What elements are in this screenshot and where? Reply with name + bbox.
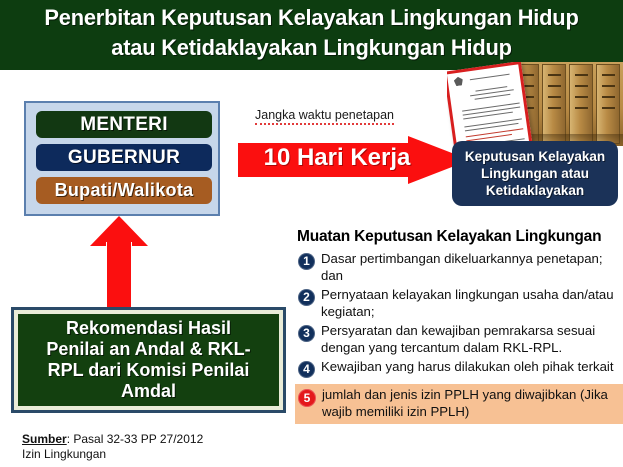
list-item-number-badge: 2 xyxy=(298,289,315,306)
cabinet-column xyxy=(569,64,593,144)
arrow-duration-label: 10 Hari Kerja xyxy=(242,141,432,175)
list-item: 3 Persyaratan dan kewajiban pemrakarsa s… xyxy=(295,322,623,358)
arrow-shaft xyxy=(106,242,132,314)
list-item-highlighted: 5 jumlah dan jenis izin PPLH yang diwaji… xyxy=(295,384,623,424)
list-item: 1 Dasar pertimbangan dikeluarkannya pene… xyxy=(295,250,623,286)
list-item-text: Pernyataan kelayakan lingkungan usaha da… xyxy=(321,287,623,320)
list-item-text: jumlah dan jenis izin PPLH yang diwajibk… xyxy=(322,387,623,420)
content-list: 1 Dasar pertimbangan dikeluarkannya pene… xyxy=(295,250,623,424)
cabinet-column xyxy=(542,64,566,144)
process-arrow-up xyxy=(90,216,148,314)
title-banner: Penerbitan Keputusan Kelayakan Lingkunga… xyxy=(0,0,623,70)
cabinet-column xyxy=(596,64,620,144)
list-item-number-badge: 5 xyxy=(298,389,316,407)
arrow-caption-label: Jangka waktu penetapan xyxy=(255,108,394,125)
list-item: 2 Pernyataan kelayakan lingkungan usaha … xyxy=(295,286,623,322)
recommendation-box: Rekomendasi Hasil Penilai an Andal & RKL… xyxy=(11,307,286,413)
source-note: Sumber: Pasal 32-33 PP 27/2012 Izin Ling… xyxy=(22,432,203,462)
list-item-text: Persyaratan dan kewajiban pemrakarsa ses… xyxy=(321,323,623,356)
authority-box-gubernur[interactable]: GUBERNUR xyxy=(36,144,212,171)
list-item-number-badge: 1 xyxy=(298,253,315,270)
list-item-number-badge: 4 xyxy=(298,361,315,378)
list-item-text: Kewajiban yang harus dilakukan oleh piha… xyxy=(321,359,618,376)
list-item-text: Dasar pertimbangan dikeluarkannya peneta… xyxy=(321,251,623,284)
page-title: Penerbitan Keputusan Kelayakan Lingkunga… xyxy=(9,3,613,63)
authority-box-menteri[interactable]: MENTERI xyxy=(36,111,212,138)
decision-result-box: Keputusan Kelayakan Lingkungan atau Keti… xyxy=(452,141,618,206)
photo-collage xyxy=(447,62,623,150)
list-item-number-badge: 3 xyxy=(298,325,315,342)
authority-panel: MENTERI GUBERNUR Bupati/Walikota xyxy=(24,101,220,216)
content-section-heading: Muatan Keputusan Kelayakan Lingkungan xyxy=(297,228,601,246)
source-label: Sumber xyxy=(22,432,67,446)
authority-box-bupati-walikota[interactable]: Bupati/Walikota xyxy=(36,177,212,204)
source-line1: Pasal 32-33 PP 27/2012 xyxy=(73,432,203,446)
garuda-crest-icon xyxy=(453,76,463,86)
source-line2: Izin Lingkungan xyxy=(22,447,106,461)
list-item: 4 Kewajiban yang harus dilakukan oleh pi… xyxy=(295,358,623,381)
slide-canvas: Penerbitan Keputusan Kelayakan Lingkunga… xyxy=(0,0,623,467)
